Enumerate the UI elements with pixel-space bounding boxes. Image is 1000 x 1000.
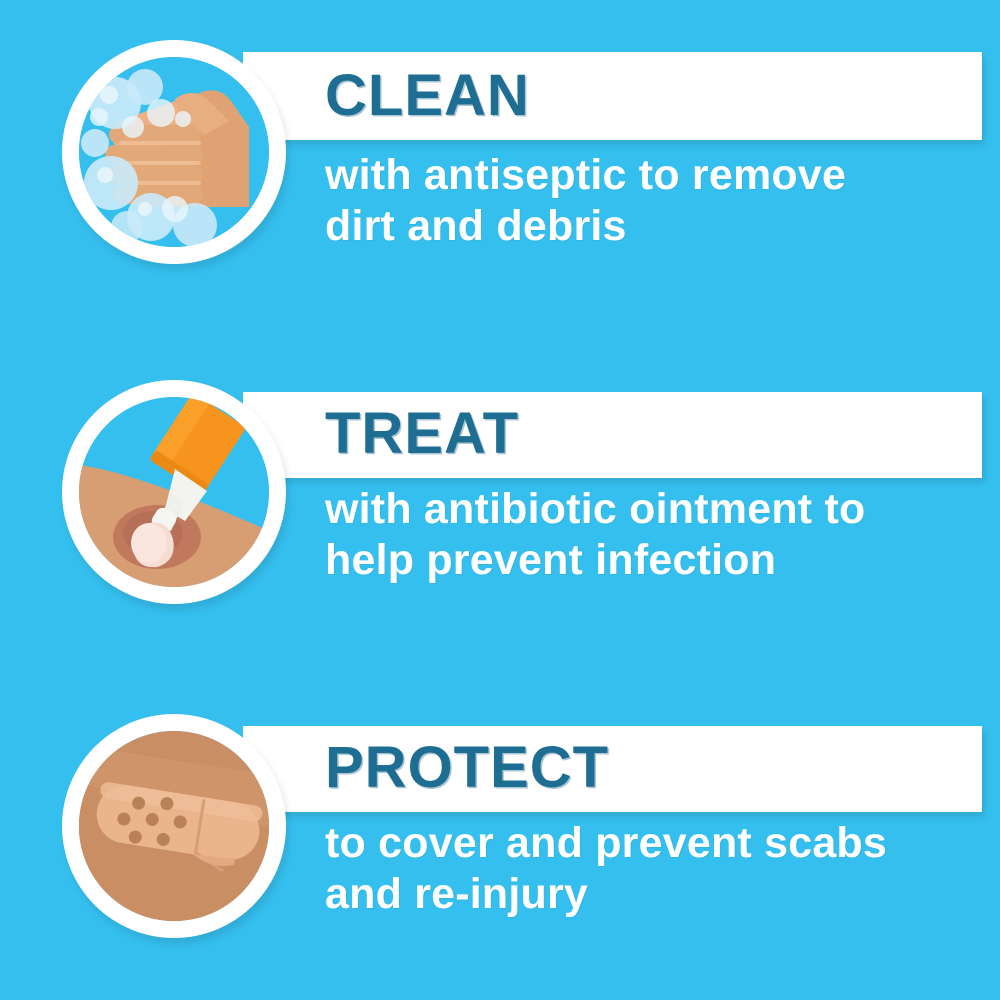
ointment-tube-icon [79, 397, 269, 587]
step-title-treat: TREAT [325, 400, 519, 468]
step-title-protect: PROTECT [325, 734, 609, 802]
icon-circle-clean [62, 40, 286, 264]
step-body-protect: to cover and prevent scabs and re-injury [325, 818, 985, 920]
body-line-1: with antiseptic to remove [325, 150, 985, 201]
adhesive-bandage-icon [79, 731, 269, 921]
washing-hands-icon [79, 57, 269, 247]
step-treat: TREAT with antibiotic ointment to help p… [0, 380, 1000, 640]
body-line-1: to cover and prevent scabs [325, 818, 985, 869]
body-line-2: dirt and debris [325, 201, 985, 252]
step-clean: CLEAN with antiseptic to remove dirt and… [0, 40, 1000, 310]
icon-circle-treat [62, 380, 286, 604]
step-protect: PROTECT to cover and prevent scabs and r… [0, 714, 1000, 974]
body-line-2: and re-injury [325, 869, 985, 920]
icon-circle-protect [62, 714, 286, 938]
step-body-clean: with antiseptic to remove dirt and debri… [325, 150, 985, 252]
step-body-treat: with antibiotic ointment to help prevent… [325, 484, 985, 586]
infographic-poster: CLEAN with antiseptic to remove dirt and… [0, 0, 1000, 1000]
body-line-2: help prevent infection [325, 535, 985, 586]
step-title-clean: CLEAN [325, 62, 530, 130]
body-line-1: with antibiotic ointment to [325, 484, 985, 535]
